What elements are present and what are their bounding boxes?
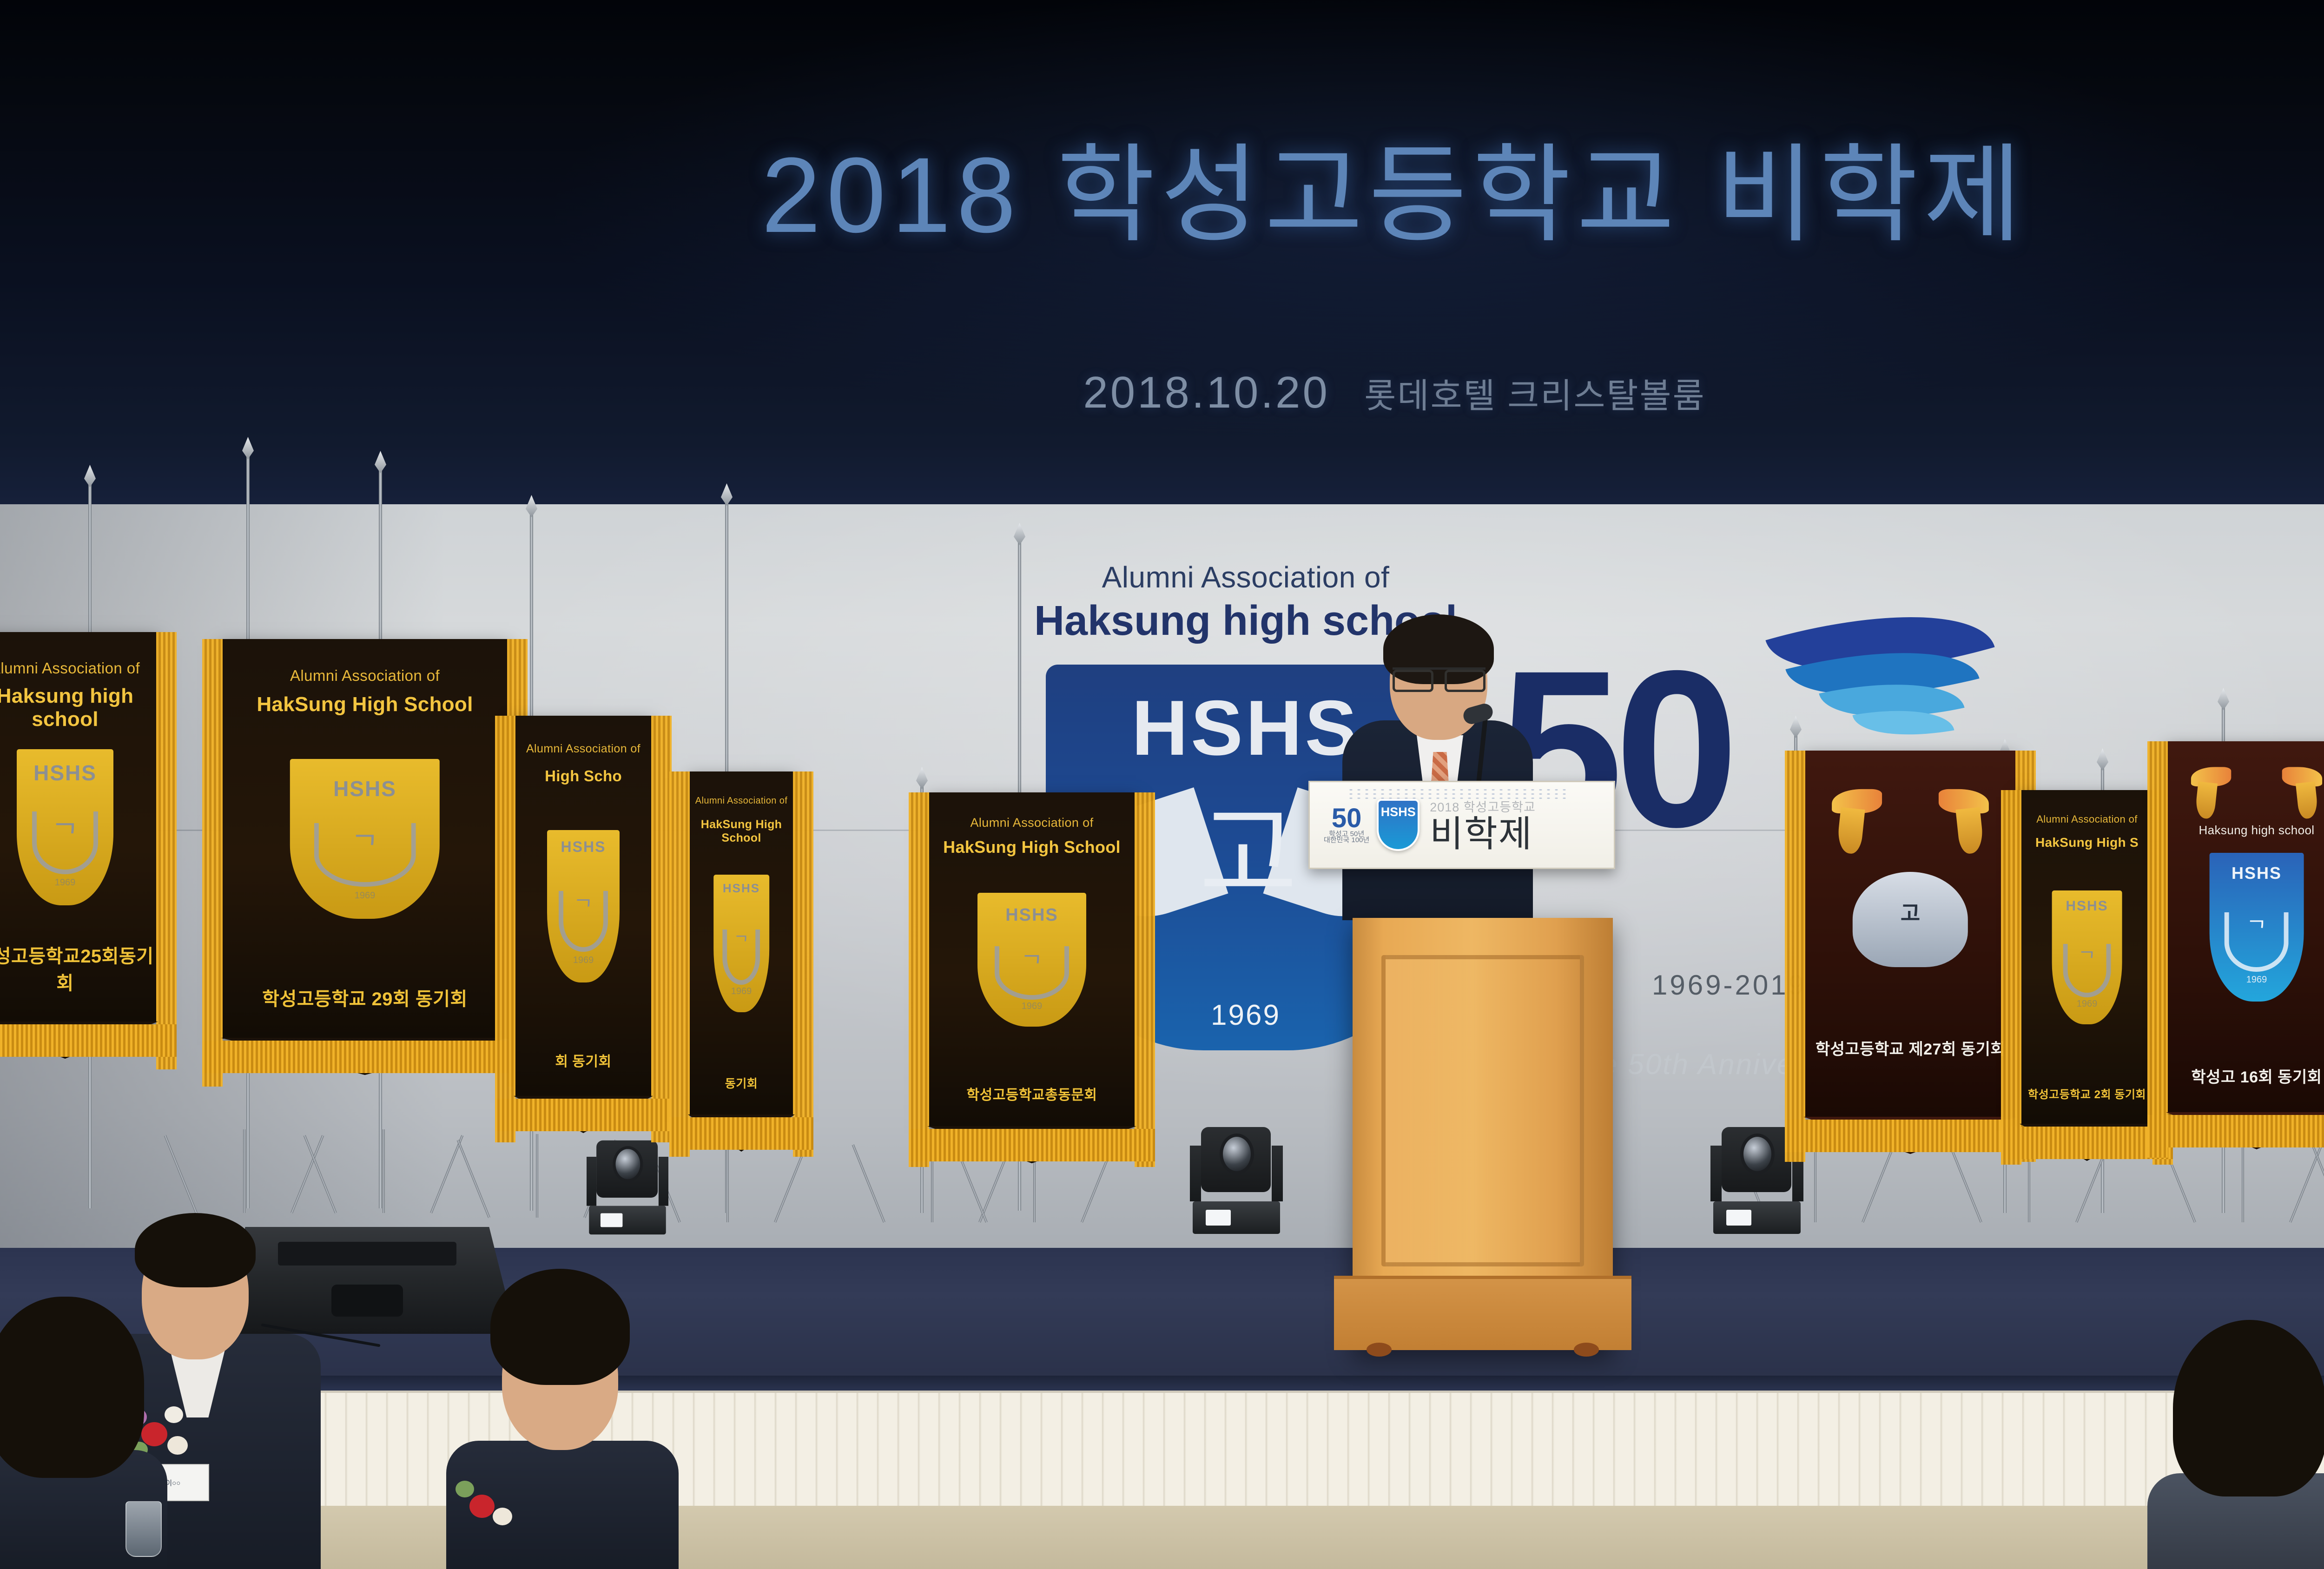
banner-line1: Alumni Association of <box>927 816 1136 830</box>
house-floor <box>0 1506 2324 1569</box>
banner-line2: High Scho <box>514 767 653 785</box>
plate-50-caption-2: 대한민국 100년 <box>1324 837 1369 844</box>
banner-shield-year: 1969 <box>977 1001 1086 1012</box>
alumni-banner: 고 학성고등학교 제27회 동기회 <box>1803 751 2017 1118</box>
audience-hair <box>0 1297 144 1478</box>
banner-shield-glyph: ᄀ <box>547 891 620 921</box>
banner-eagle-glyph: 고 <box>1853 897 1968 927</box>
moving-head-light <box>587 1140 668 1234</box>
moving-head-light <box>1190 1127 1283 1234</box>
audience-hair <box>2173 1320 2324 1496</box>
banner-line2: HakSung High School <box>688 818 795 845</box>
banner-bottom-text: 학성고 16회 동기회 <box>2166 1064 2324 1087</box>
banner-shield-year: 1969 <box>713 986 769 997</box>
podium-panel <box>1381 955 1584 1266</box>
water-glass <box>125 1501 162 1557</box>
event-date: 2018.10.20 <box>1083 368 1329 417</box>
audience-person <box>446 1255 679 1569</box>
banner-shield-year: 1969 <box>547 955 620 966</box>
flag-tripod <box>335 1129 432 1213</box>
alumni-banner: Alumni Association of HakSung High Schoo… <box>221 639 509 1039</box>
light-lens-icon <box>1740 1134 1775 1174</box>
backdrop-emblem-glyph: 고 <box>1199 804 1292 920</box>
banner-line1: Alumni Association of <box>688 796 795 806</box>
flag-tripod <box>2194 1139 2291 1222</box>
banner-line1: Haksung high school <box>2166 823 2324 837</box>
flag-tripod <box>679 1139 776 1222</box>
plate-dot-pattern <box>1347 788 1570 800</box>
banner-shield-year: 1969 <box>2210 975 2304 985</box>
corsage-flower-icon <box>456 1478 530 1543</box>
banner-line2: HakSung High School <box>927 837 1136 857</box>
banner-shield-year: 1969 <box>290 890 440 901</box>
event-title: 2018 학성고등학교 비학제 <box>0 142 2324 249</box>
plate-title: 비학제 <box>1430 815 1536 853</box>
banner-line1: Alumni Association of <box>514 742 653 756</box>
podium-name-plate: 50 학성고 50년 대한민국 100년 HSHS 2018 학성고등학교 비학… <box>1308 781 1615 869</box>
banner-shield: HSHS ᄀ 1969 <box>2210 853 2304 1002</box>
banner-bottom-text: 동기회 <box>688 1075 795 1091</box>
backdrop-alumni-line: Alumni Association of <box>1013 560 1478 594</box>
banner-shield: HSHS ᄀ 1969 <box>290 759 440 919</box>
banner-shield-text: HSHS <box>33 760 97 785</box>
audience-person <box>2147 1320 2324 1569</box>
alumni-banner: Alumni Association of High Scho HSHS ᄀ 1… <box>514 716 653 1097</box>
event-photo-stage: 2018 학성고등학교 비학제 2018.10.20 롯데호텔 크리스탈볼룸 A… <box>0 0 2324 1569</box>
audience-hair <box>490 1269 630 1385</box>
event-venue: 롯데호텔 크리스탈볼룸 <box>1364 376 1705 415</box>
plate-50-logo: 50 학성고 50년 대한민국 100년 <box>1324 806 1369 843</box>
flag-tripod <box>488 1134 586 1218</box>
banner-line2: HakSung High School <box>221 693 509 716</box>
podium <box>1353 918 1613 1350</box>
banner-eagle-icon: 고 <box>1853 872 1968 967</box>
banner-shield-glyph: ᄀ <box>2210 912 2304 943</box>
anniversary-wing-icon <box>1771 609 2013 762</box>
alumni-banner: Alumni Association of Haksung high schoo… <box>0 632 158 1022</box>
banner-bottom-text: 학성고등학교총동문회 <box>927 1083 1136 1104</box>
banner-shield-glyph: ᄀ <box>713 930 769 952</box>
banner-shield-glyph: ᄀ <box>17 811 113 853</box>
phoenix-icon <box>1826 783 1897 854</box>
banner-shield: HSHS ᄀ 1969 <box>547 830 620 982</box>
speaker-person <box>1339 604 1534 930</box>
audience-hair <box>135 1213 256 1287</box>
banner-shield-glyph: ᄀ <box>977 946 1086 980</box>
banner-bottom-text: 학성고등학교 2회 동기회 <box>2020 1085 2154 1101</box>
banner-shield-year: 1969 <box>17 877 113 888</box>
plate-50-number: 50 <box>1332 803 1362 833</box>
flag-tripod <box>46 1125 144 1208</box>
banner-shield: HSHS ᄀ 1969 <box>2052 890 2122 1024</box>
banner-shield: HSHS ᄀ 1969 <box>713 875 769 1012</box>
plate-shield-text: HSHS <box>1381 805 1416 819</box>
light-lens-icon <box>613 1146 643 1182</box>
event-subtitle-row: 2018.10.20 롯데호텔 크리스탈볼룸 <box>0 367 2324 418</box>
banner-shield: HSHS ᄀ 1969 <box>977 893 1086 1027</box>
phoenix-icon <box>2270 762 2324 818</box>
banner-shield-text: HSHS <box>1005 905 1058 925</box>
banner-line1: Alumni Association of <box>0 659 158 677</box>
banner-bottom-text: 학성고등학교25회동기회 <box>0 941 158 995</box>
banner-bottom-text: 학성고등학교 29회 동기회 <box>221 984 509 1011</box>
banner-shield-text: HSHS <box>2066 898 2108 914</box>
plate-hshs-shield: HSHS <box>1377 799 1419 851</box>
banner-shield-glyph: ᄀ <box>2052 944 2122 971</box>
banner-shield-text: HSHS <box>2232 864 2282 883</box>
phoenix-icon <box>1924 783 1995 854</box>
alumni-banner: Alumni Association of HakSung High Schoo… <box>688 771 795 1115</box>
light-lens-icon <box>1220 1134 1254 1174</box>
banner-shield-text: HSHS <box>561 838 606 856</box>
podium-base <box>1334 1276 1631 1350</box>
banner-bottom-text: 회 동기회 <box>514 1050 653 1070</box>
phoenix-icon <box>2186 762 2243 818</box>
plate-text-block: 2018 학성고등학교 비학제 <box>1430 797 1536 853</box>
banner-shield-text: HSHS <box>723 881 760 896</box>
banner-line1: Alumni Association of <box>221 667 509 685</box>
banner-shield: HSHS ᄀ 1969 <box>17 749 113 905</box>
banner-line2: Haksung high school <box>0 685 158 731</box>
stage-skirt <box>0 1391 2324 1511</box>
banner-shield-year: 1969 <box>2052 999 2122 1009</box>
stage-edge <box>0 1376 2324 1391</box>
banner-line2: HakSung High S <box>2020 835 2154 850</box>
flag-tripod <box>195 1129 293 1213</box>
banner-shield-text: HSHS <box>333 776 396 801</box>
alumni-banner: Alumni Association of HakSung High Schoo… <box>927 792 1136 1127</box>
alumni-banner: Alumni Association of HakSung High S HSH… <box>2020 790 2154 1125</box>
glasses-icon <box>1393 667 1486 686</box>
banner-line1: Alumni Association of <box>2020 813 2154 825</box>
alumni-banner: Haksung high school HSHS ᄀ 1969 학성고 16회 … <box>2166 741 2324 1113</box>
banner-shield-glyph: ᄀ <box>290 823 440 865</box>
banner-bottom-text: 학성고등학교 제27회 동기회 <box>1803 1036 2017 1059</box>
